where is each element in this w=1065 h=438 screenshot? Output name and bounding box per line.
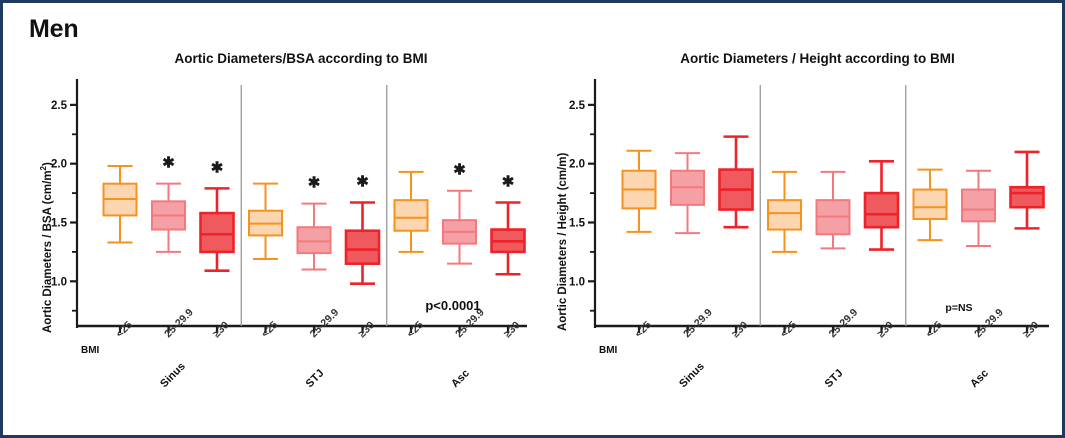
x-group-label: STJ [304, 367, 327, 390]
x-group-label: STJ [823, 367, 846, 390]
x-tick-label: ≥30 [502, 319, 523, 340]
boxplot-box [492, 203, 525, 275]
significance-star: ✱ [162, 155, 175, 172]
x-tick-label: <25 [405, 319, 426, 340]
x-axis-label-bmi: BMI [599, 345, 618, 356]
boxplot-box [152, 184, 185, 252]
x-tick-label: <25 [778, 319, 799, 340]
p-value-annotation: p=NS [945, 302, 972, 314]
y-tick-label: 2.0 [569, 159, 585, 171]
boxplot-box [443, 191, 476, 264]
chart-aortic-diameters-bsa: Aortic Diameters/BSA according to BMI Ao… [27, 43, 537, 433]
x-tick-label: <25 [924, 319, 945, 340]
significance-star: ✱ [308, 175, 321, 192]
boxplot-box [720, 137, 753, 228]
x-group-label: Sinus [677, 360, 707, 390]
boxplot-box [768, 172, 801, 252]
plot-svg-height: 1.01.52.02.5<2525-29.9≥30<2525-29.9≥30<2… [551, 43, 1056, 433]
figure-panel: Men Aortic Diameters/BSA according to BM… [0, 0, 1065, 438]
boxplot-box [346, 203, 379, 284]
boxplot-box [104, 166, 137, 242]
boxplot-box [1011, 152, 1044, 228]
significance-star: ✱ [356, 174, 369, 191]
boxplot-box [201, 188, 234, 270]
x-group-label: Asc [449, 367, 472, 390]
x-group-label: Sinus [158, 360, 188, 390]
x-tick-label: <25 [259, 319, 280, 340]
y-tick-label: 1.5 [569, 217, 586, 229]
y-tick-label: 1.5 [51, 217, 68, 229]
chart-aortic-diameters-height: Aortic Diameters / Height according to B… [551, 43, 1056, 433]
x-tick-label: 25-29.9 [308, 306, 342, 340]
x-axis-label-bmi: BMI [81, 345, 100, 356]
x-tick-label: ≥30 [875, 319, 896, 340]
boxplot-box [865, 161, 898, 249]
p-value-annotation: p<0.0001 [425, 298, 480, 313]
x-tick-label: 25-29.9 [972, 306, 1006, 340]
y-tick-label: 1.0 [51, 276, 67, 288]
boxplot-box [249, 184, 282, 259]
x-tick-label: 25-29.9 [827, 306, 861, 340]
boxplot-box [962, 171, 995, 246]
y-tick-label: 2.5 [51, 100, 68, 112]
x-tick-label: ≥30 [356, 319, 377, 340]
x-tick-label: 25-29.9 [162, 306, 196, 340]
y-tick-label: 1.0 [569, 276, 585, 288]
boxplot-box [395, 172, 428, 252]
x-tick-label: ≥30 [730, 319, 751, 340]
boxplot-box [623, 151, 656, 232]
boxplot-box [298, 204, 331, 270]
significance-star: ✱ [453, 162, 466, 179]
x-tick-label: ≥30 [1021, 319, 1042, 340]
boxplot-box [914, 170, 947, 241]
significance-star: ✱ [211, 159, 224, 176]
plot-area-height: 1.01.52.02.5<2525-29.9≥30<2525-29.9≥30<2… [551, 43, 1056, 433]
boxplot-box [817, 172, 850, 248]
boxplot-box [671, 153, 704, 233]
x-tick-label: ≥30 [211, 319, 232, 340]
x-tick-label: <25 [633, 319, 654, 340]
y-tick-label: 2.5 [569, 100, 586, 112]
significance-star: ✱ [502, 174, 515, 191]
plot-svg-bsa: 1.01.52.02.5<25✱25-29.9✱≥30<25✱25-29.9✱≥… [27, 43, 537, 433]
page-title: Men [29, 15, 78, 44]
y-tick-label: 2.0 [51, 159, 67, 171]
x-tick-label: <25 [114, 319, 135, 340]
x-tick-label: 25-29.9 [681, 306, 715, 340]
x-group-label: Asc [968, 367, 991, 390]
plot-area-bsa: 1.01.52.02.5<25✱25-29.9✱≥30<25✱25-29.9✱≥… [27, 43, 537, 433]
